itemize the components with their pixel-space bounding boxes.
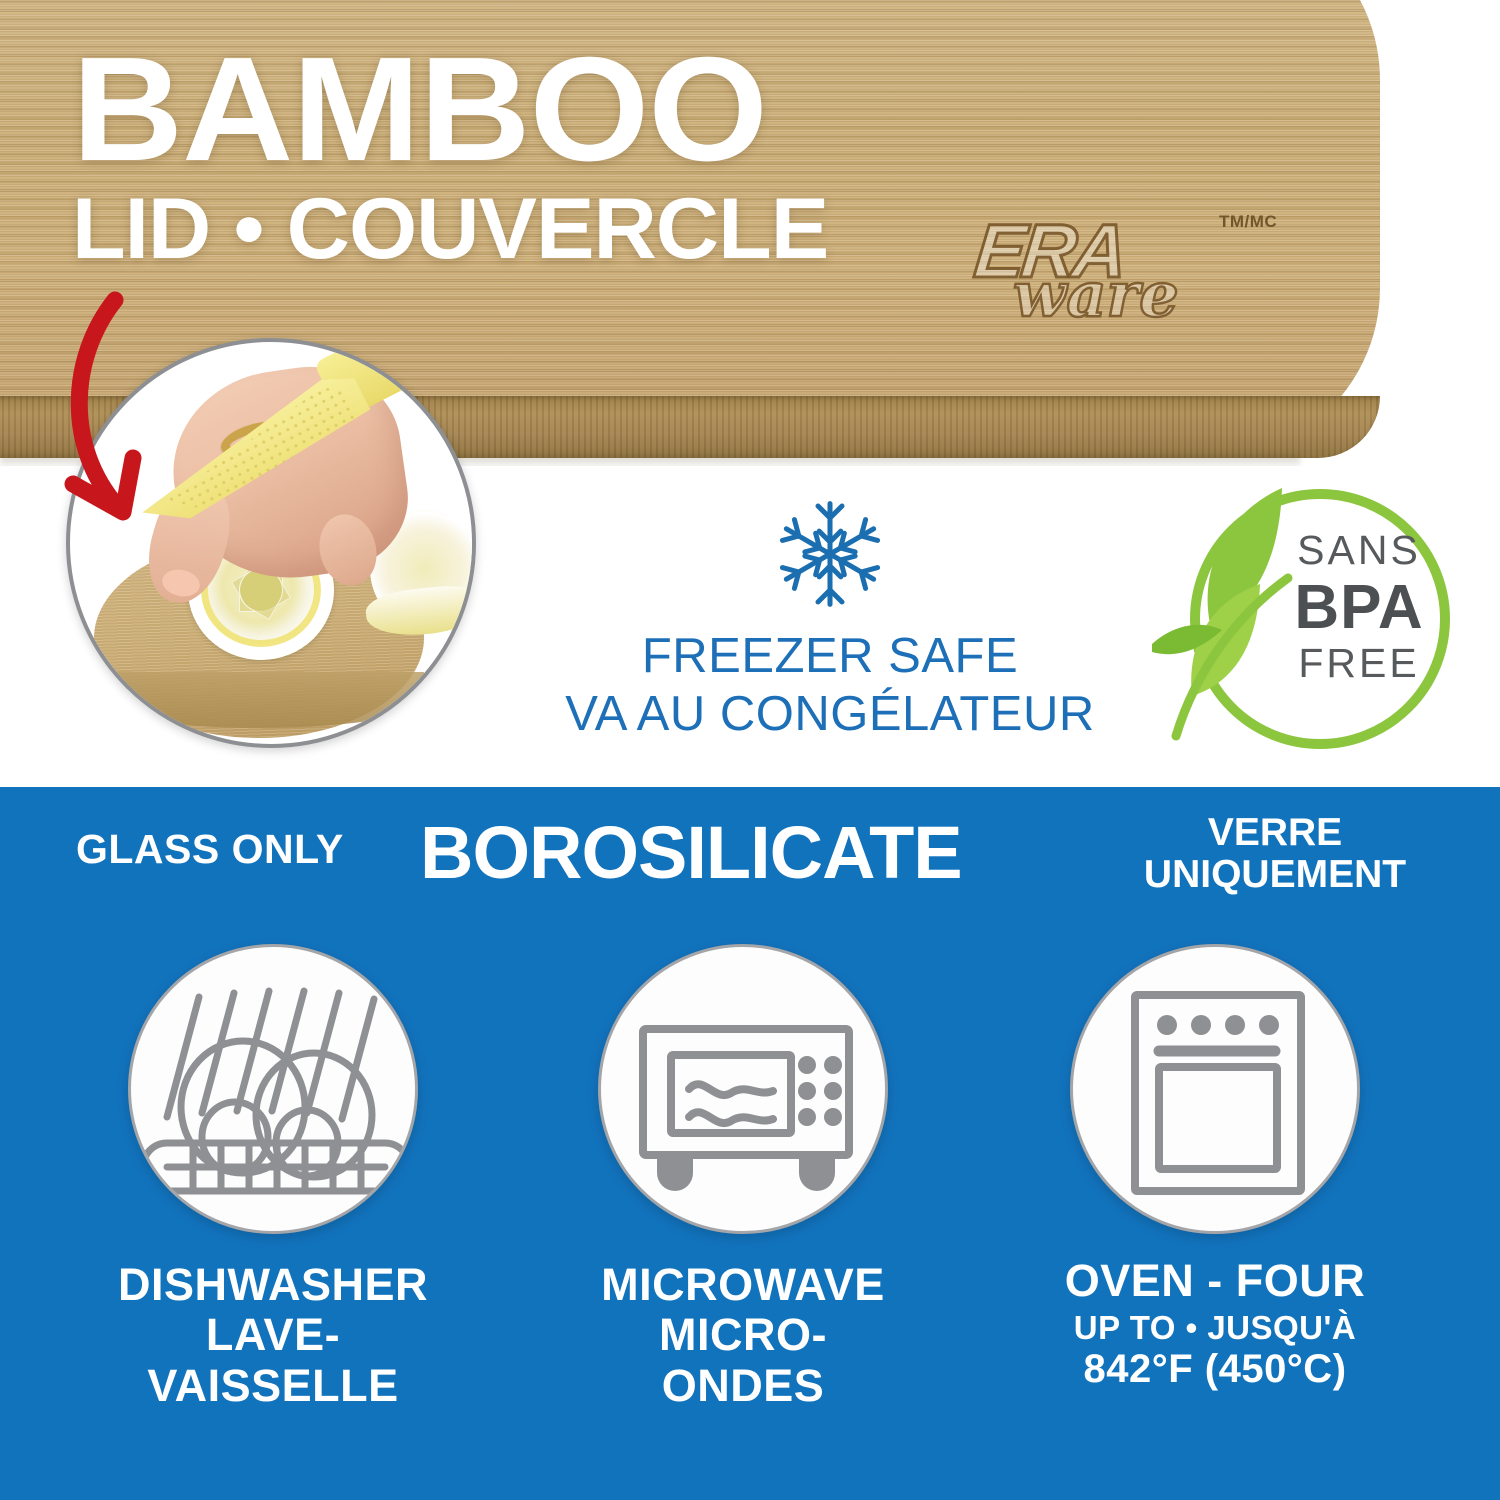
freezer-label-en: FREEZER SAFE (540, 628, 1120, 686)
oven-label-temp: 842°F (450°C) (1050, 1347, 1380, 1392)
title-line-primary: BAMBOO (72, 42, 843, 178)
bpa-free-badge: SANS BPA FREE (1152, 474, 1462, 764)
bpa-line-sans: SANS (1264, 530, 1454, 571)
verre-uniquement-label: VERRE UNIQUEMENT (1110, 812, 1440, 896)
brand-logo: ERA TM/MC ware (975, 206, 1305, 326)
dishwasher-label-fr: LAVE-VAISSELLE (108, 1310, 438, 1411)
glass-only-label: GLASS ONLY (76, 826, 344, 873)
page-title: BAMBOO LID • COUVERCLE (72, 42, 813, 274)
microwave-label-en: MICROWAVE (578, 1260, 908, 1310)
dishwasher-icon (131, 947, 418, 1234)
feature-oven: OVEN - FOUR UP TO • JUSQU'À 842°F (450°C… (1050, 944, 1380, 1392)
freezer-safe-label: FREEZER SAFE VA AU CONGÉLATEUR (540, 628, 1120, 744)
microwave-label-fr: MICRO-ONDES (578, 1310, 908, 1411)
product-infographic: BAMBOO LID • COUVERCLE ERA TM/MC ware (0, 0, 1500, 1500)
verre-line-2: UNIQUEMENT (1144, 853, 1406, 896)
borosilicate-label: BOROSILICATE (420, 810, 962, 895)
red-curved-arrow-icon (55, 288, 305, 548)
round-board-edge (94, 672, 424, 728)
feature-microwave: MICROWAVE MICRO-ONDES (578, 944, 908, 1411)
bpa-text-block: SANS BPA FREE (1264, 530, 1454, 684)
oven-icon-disc (1070, 944, 1360, 1234)
trademark-mark: TM/MC (1219, 212, 1277, 232)
bpa-line-bpa: BPA (1264, 577, 1454, 639)
title-line-secondary: LID • COUVERCLE (72, 184, 828, 274)
feature-dishwasher: DISHWASHER LAVE-VAISSELLE (108, 944, 438, 1411)
verre-line-1: VERRE (1208, 811, 1342, 854)
freezer-safe-feature: FREEZER SAFE VA AU CONGÉLATEUR (540, 494, 1120, 744)
dishwasher-icon-disc (128, 944, 418, 1234)
freezer-label-fr: VA AU CONGÉLATEUR (540, 686, 1120, 744)
oven-label-sub: UP TO • JUSQU'À (1050, 1310, 1380, 1347)
brand-name-secondary: ware (1013, 258, 1179, 331)
dishwasher-label-en: DISHWASHER (108, 1260, 438, 1310)
bpa-line-free: FREE (1264, 643, 1454, 684)
dishwasher-caption: DISHWASHER LAVE-VAISSELLE (108, 1260, 438, 1411)
oven-label-en: OVEN - FOUR (1050, 1256, 1380, 1306)
microwave-icon (601, 947, 888, 1234)
oven-icon (1073, 947, 1360, 1234)
microwave-icon-disc (598, 944, 888, 1234)
oven-caption: OVEN - FOUR UP TO • JUSQU'À 842°F (450°C… (1050, 1256, 1380, 1392)
microwave-caption: MICROWAVE MICRO-ONDES (578, 1260, 908, 1411)
snowflake-icon (770, 494, 890, 614)
